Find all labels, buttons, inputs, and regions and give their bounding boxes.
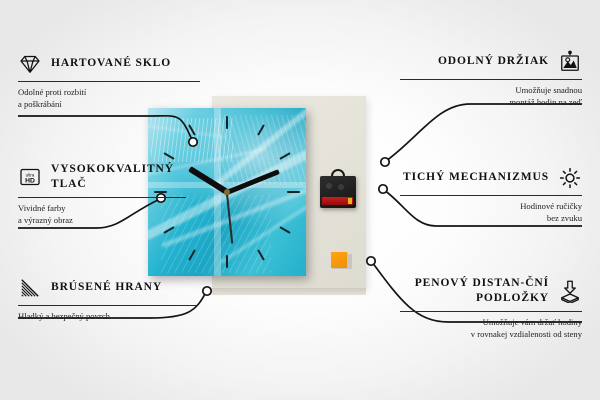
divider	[400, 195, 582, 196]
feature-title: HARTOVANÉ SKLO	[51, 56, 171, 71]
diamond-icon	[18, 52, 42, 76]
feature-title: PENOVÝ DISTAN-ČNÍ PODLOŽKY	[400, 276, 549, 306]
feature-title: ODOLNÝ DRŽIAK	[438, 54, 549, 69]
feature-desc: Vividné farby a výrazný obraz	[18, 202, 186, 226]
feature-title: TICHÝ MECHANIZMUS	[403, 170, 549, 185]
feature-header: ODOLNÝ DRŽIAK	[400, 50, 582, 74]
battery	[322, 197, 353, 205]
ultra-hd-icon: ultra HD	[18, 165, 42, 189]
picture-frame-hanger-icon	[558, 50, 582, 74]
infographic-stage: HARTOVANÉ SKLO Odolné proti rozbití a po…	[0, 0, 600, 400]
feature-desc: Hodinové ručičky bez zvuku	[400, 200, 582, 224]
divider	[18, 81, 200, 82]
mechanism-detail	[324, 181, 350, 195]
clock-center-pin	[224, 189, 230, 195]
clock-mechanism	[320, 176, 356, 208]
feature-desc: Umožňuje snadnou montáž hodin na zeď	[400, 84, 582, 108]
feature-header: ultra HD VYSOKOKVALITNÝ TLAČ	[18, 162, 186, 192]
feature-header: PENOVÝ DISTAN-ČNÍ PODLOŽKY	[400, 276, 582, 306]
feature-durable-hanger[interactable]: ODOLNÝ DRŽIAK Umožňuje snadnou montáž ho…	[400, 50, 582, 108]
foam-spacer-pad	[331, 252, 347, 268]
feature-title: BRÚSENÉ HRANY	[51, 280, 162, 295]
gear-icon	[558, 166, 582, 190]
feature-header: TICHÝ MECHANIZMUS	[400, 166, 582, 190]
svg-text:HD: HD	[25, 178, 35, 185]
feature-header: HARTOVANÉ SKLO	[18, 52, 200, 76]
feature-desc: Hladký a bezpečný povrch	[18, 310, 198, 322]
feature-title: VYSOKOKVALITNÝ TLAČ	[51, 162, 186, 192]
divider	[18, 305, 198, 306]
feature-high-quality-print[interactable]: ultra HD VYSOKOKVALITNÝ TLAČ Vividné far…	[18, 162, 186, 226]
divider	[18, 197, 186, 198]
feature-header: BRÚSENÉ HRANY	[18, 276, 198, 300]
mechanism-body	[320, 176, 356, 208]
divider	[400, 79, 582, 80]
feature-silent-mechanism[interactable]: TICHÝ MECHANIZMUS Hodinové ručičky bez z…	[400, 166, 582, 224]
glass-reflection-vertical	[214, 108, 221, 276]
feature-foam-spacers[interactable]: PENOVÝ DISTAN-ČNÍ PODLOŽKY Umožňuje vám …	[400, 276, 582, 340]
divider	[400, 311, 582, 312]
press-down-pad-icon	[558, 279, 582, 303]
hatched-edge-icon	[18, 276, 42, 300]
feature-desc: Umožňuje vám držať hodiny v rovnakej vzd…	[400, 316, 582, 340]
svg-text:ultra: ultra	[26, 172, 35, 177]
feature-desc: Odolné proti rozbití a poškrábání	[18, 86, 200, 110]
feature-ground-edges[interactable]: BRÚSENÉ HRANY Hladký a bezpečný povrch	[18, 276, 198, 322]
feature-tempered-glass[interactable]: HARTOVANÉ SKLO Odolné proti rozbití a po…	[18, 52, 200, 110]
